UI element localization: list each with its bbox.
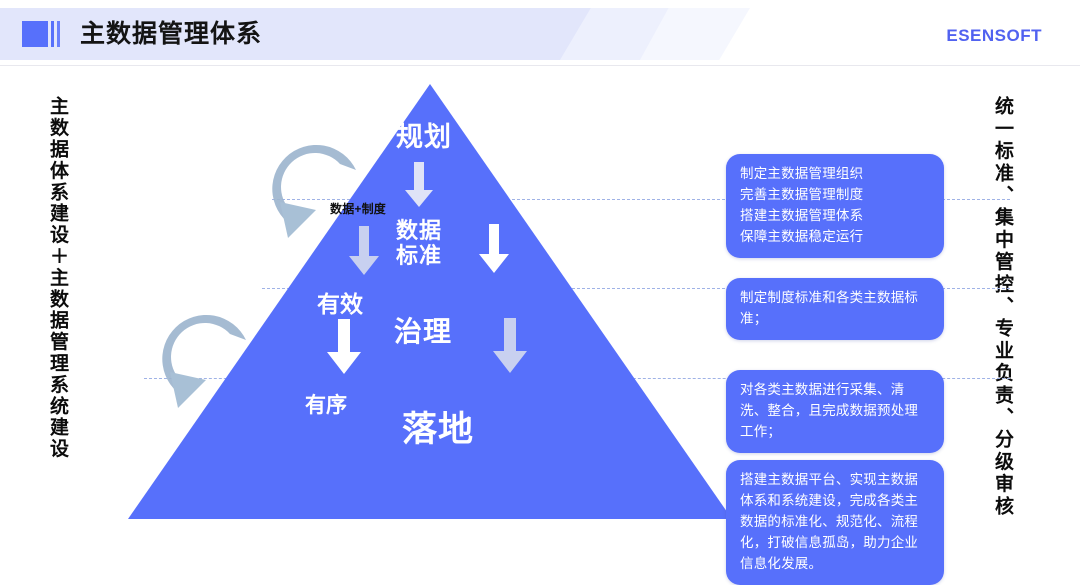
pyramid-label-plan: 规划: [396, 122, 452, 152]
circular-arrow-icon: [134, 294, 264, 424]
logo-square: [22, 21, 48, 47]
pyramid-tag-data-system: 数据+制度: [330, 200, 386, 217]
arrow-down-icon: [492, 318, 528, 374]
brand-logo-text: ESENSOFT: [946, 26, 1042, 46]
callout-standard: 制定制度标准和各类主数据标准；: [726, 278, 944, 340]
diagram-stage: 规划 数据+制度 数据 标准 有效 治理 有序 落地 制定主数据管理组织 完善主…: [0, 66, 1080, 531]
pyramid-label-standard: 数据 标准: [396, 219, 442, 268]
pyramid-label-landing: 落地: [402, 410, 474, 449]
page-title: 主数据管理体系: [80, 16, 262, 52]
pyramid-sublabel-effective: 有效: [317, 293, 363, 316]
pyramid-sublabel-orderly: 有序: [305, 395, 347, 416]
arrow-down-icon: [404, 162, 434, 208]
callout-governance: 对各类主数据进行采集、清洗、整合，且完成数据预处理工作；: [726, 370, 944, 453]
logo-bar-2: [57, 21, 60, 47]
callout-landing: 搭建主数据平台、实现主数据体系和系统建设，完成各类主数据的标准化、规范化、流程化…: [726, 460, 944, 585]
pyramid-label-governance: 治理: [394, 316, 452, 347]
logo-bar-1: [51, 21, 54, 47]
square-bars-logo-icon: [22, 21, 70, 47]
callout-plan: 制定主数据管理组织 完善主数据管理制度 搭建主数据管理体系 保障主数据稳定运行: [726, 154, 944, 258]
arrow-down-icon: [326, 319, 362, 375]
page-header: 主数据管理体系 ESENSOFT: [0, 0, 1080, 66]
arrow-down-icon: [348, 226, 380, 276]
arrow-down-icon: [478, 224, 510, 274]
